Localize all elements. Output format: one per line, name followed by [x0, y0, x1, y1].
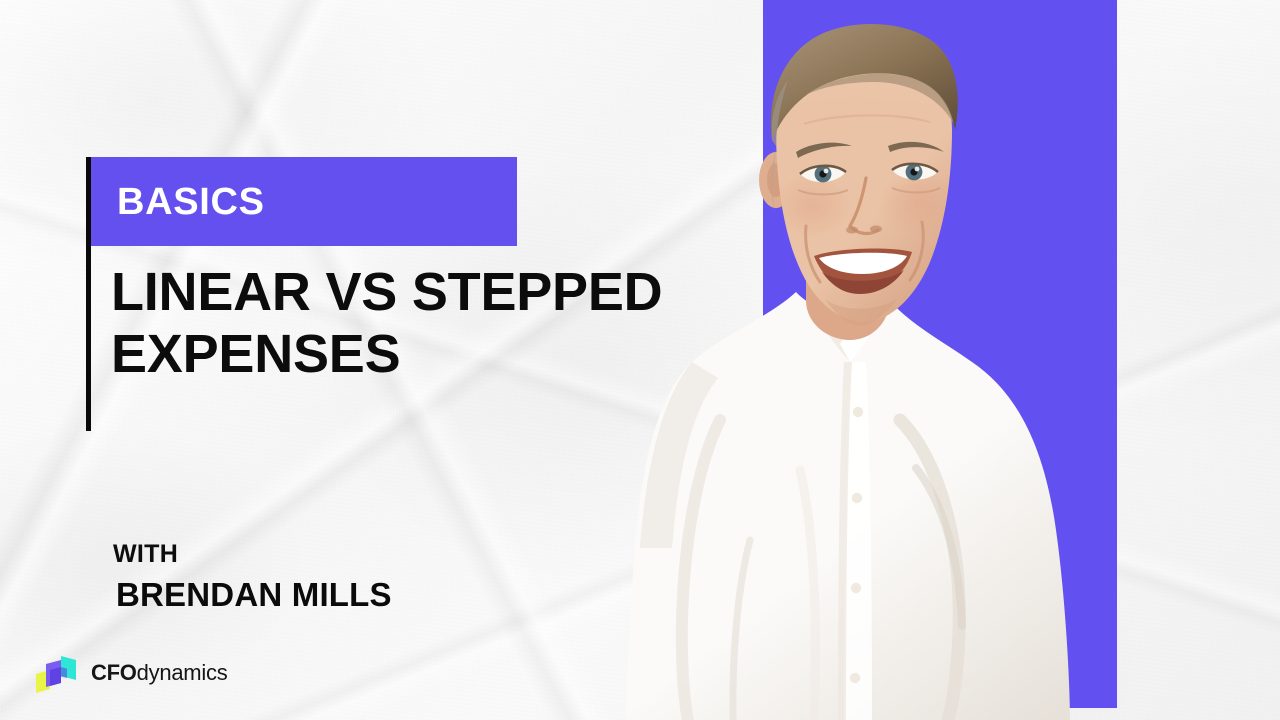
- presenter-with-label: WITH: [113, 541, 392, 569]
- presenter-name: BRENDAN MILLS: [116, 577, 392, 613]
- host-head: [759, 24, 960, 326]
- cfo-dynamics-logo-mark: [33, 652, 79, 694]
- page-title: LINEAR VS STEPPED EXPENSES: [111, 262, 731, 385]
- category-badge: BASICS: [91, 157, 517, 246]
- brand-word-cfo: CFO: [91, 660, 137, 685]
- presenter-credit: WITH BRENDAN MILLS: [113, 541, 392, 613]
- brand-word-dynamics: dynamics: [137, 660, 228, 685]
- title-card-slide: BASICS LINEAR VS STEPPED EXPENSES WITH B…: [0, 0, 1280, 720]
- brand-lockup: CFOdynamics: [33, 652, 227, 694]
- category-badge-label: BASICS: [117, 183, 265, 221]
- brand-wordmark: CFOdynamics: [91, 662, 227, 684]
